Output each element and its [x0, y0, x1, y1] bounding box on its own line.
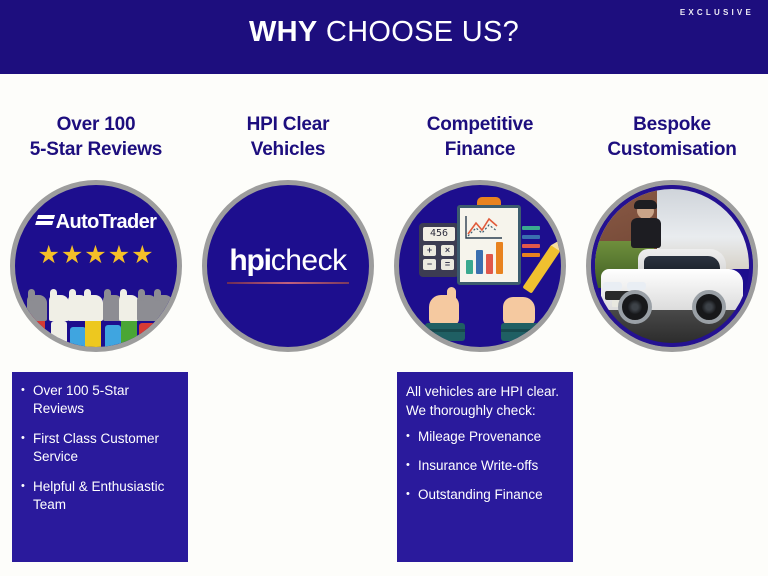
bar-chart-bar	[466, 260, 473, 274]
legend-swatch	[522, 226, 540, 230]
benefits-list-reviews: Over 100 5-Star Reviews First Class Cust…	[21, 382, 179, 514]
page-title-light: CHOOSE US?	[318, 16, 520, 48]
column-title-bespoke: Bespoke Customisation	[576, 112, 768, 162]
finance-illustration-badge: 456 + × − =	[394, 180, 566, 352]
thumbs-up-icon	[29, 313, 45, 347]
five-star-icon: ★★★★★	[15, 243, 177, 268]
calculator-key-minus: −	[423, 259, 436, 270]
calculator-display: 456	[423, 227, 455, 241]
list-item: First Class Customer Service	[21, 430, 179, 466]
feature-column-bespoke: Bespoke Customisation	[576, 74, 768, 576]
hpi-check-badge: hpicheck	[202, 180, 374, 352]
car-photo-inner-ring	[591, 185, 753, 347]
thumbs-up-icon	[105, 325, 121, 347]
autotrader-mark-icon	[34, 215, 55, 229]
car-figure	[601, 248, 743, 319]
thumbs-up-icon	[121, 317, 137, 347]
column-title-hpi: HPI Clear Vehicles	[192, 112, 384, 162]
hpi-logo-underline	[227, 282, 349, 284]
hand-right-icon	[501, 289, 543, 341]
header-banner: WHY CHOOSE US? EXCLUSIVE	[0, 0, 768, 74]
benefits-box-reviews: Over 100 5-Star Reviews First Class Cust…	[12, 372, 188, 562]
person-figure	[629, 203, 663, 249]
calculator-key-plus: +	[423, 245, 436, 256]
bar-chart-bar	[496, 242, 503, 274]
legend-swatch	[522, 253, 540, 257]
slide-why-choose-us: WHY CHOOSE US? EXCLUSIVE Over 100 5-Star…	[0, 0, 768, 576]
pencil-icon	[522, 244, 560, 293]
page-title-strong: WHY	[249, 16, 318, 48]
line-chart-icon	[464, 214, 504, 242]
car-photo-badge	[586, 180, 758, 352]
column-title-reviews: Over 100 5-Star Reviews	[0, 112, 192, 162]
exclusive-badge: EXCLUSIVE	[680, 8, 754, 17]
hand-left-icon	[425, 289, 467, 341]
clipboard-icon	[457, 205, 521, 285]
calculator-key-equals: =	[441, 259, 454, 270]
list-item: Over 100 5-Star Reviews	[21, 382, 179, 418]
thumbs-up-icon	[85, 311, 101, 347]
feature-column-reviews: Over 100 5-Star Reviews AutoTrader ★★★★★	[0, 74, 192, 576]
autotrader-logo: AutoTrader	[15, 211, 177, 234]
hpi-logo-light: check	[271, 244, 347, 277]
thumbs-up-icon	[155, 331, 171, 347]
bar-chart-bar	[476, 250, 483, 274]
thumbs-up-icon	[70, 327, 86, 347]
hpi-logo-bold: hpi	[229, 244, 270, 277]
feature-columns: Over 100 5-Star Reviews AutoTrader ★★★★★	[0, 74, 768, 576]
autotrader-rating-badge: AutoTrader ★★★★★	[10, 180, 182, 352]
hpi-check-logo: hpicheck	[207, 245, 369, 284]
feature-column-hpi: HPI Clear Vehicles hpicheck All vehicles…	[192, 74, 384, 576]
car-photo	[595, 189, 749, 343]
finance-illustration: 456 + × − =	[399, 185, 561, 347]
thumbs-up-icon	[139, 323, 155, 347]
column-title-finance: Competitive Finance	[384, 112, 576, 162]
legend-swatch	[522, 244, 540, 248]
thumbs-up-icons	[15, 277, 177, 347]
list-item: Helpful & Enthusiastic Team	[21, 478, 179, 514]
thumbs-up-icon	[51, 321, 67, 347]
bar-chart-bar	[486, 254, 493, 274]
feature-column-finance: Competitive Finance 456 + × − =	[384, 74, 576, 576]
page-title: WHY CHOOSE US?	[0, 16, 768, 49]
calculator-key-times: ×	[441, 245, 454, 256]
legend-swatch	[522, 235, 540, 239]
calculator-icon: 456 + × − =	[419, 223, 459, 277]
